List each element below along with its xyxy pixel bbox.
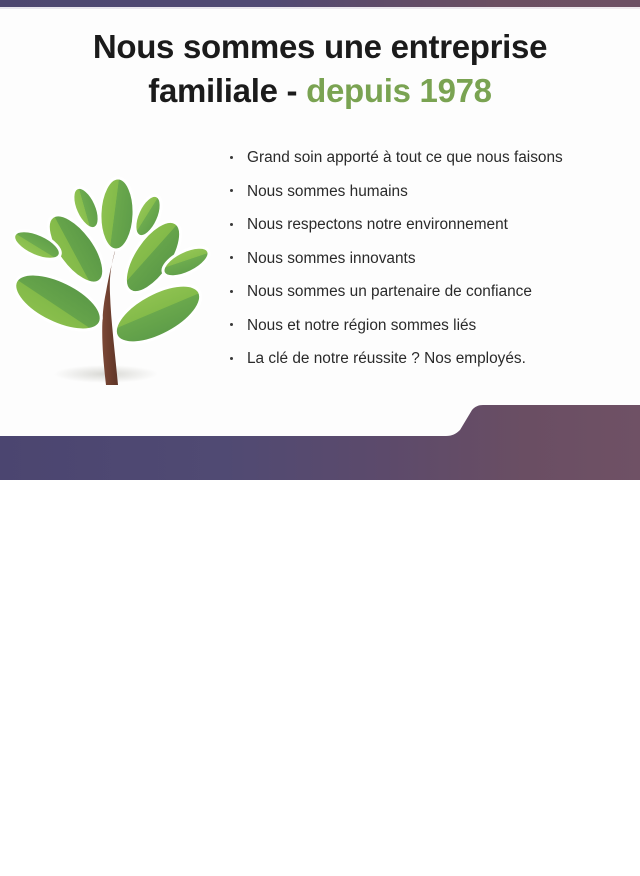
- list-item: Nous sommes humains: [228, 182, 632, 201]
- bullet-dot-icon: [230, 223, 233, 226]
- list-item: Grand soin apporté à tout ce que nous fa…: [228, 148, 632, 167]
- list-item-label: Nous sommes innovants: [247, 250, 416, 267]
- list-item-label: La clé de notre réussite ? Nos employés.: [247, 350, 526, 367]
- logo-letter-t: T: [476, 814, 496, 846]
- benefits-list: Grand soin apporté à tout ce que nous fa…: [228, 148, 632, 383]
- bullet-dot-icon: [230, 256, 233, 259]
- footer-bar: TABOR tabor-automobiles.fr: [0, 400, 640, 480]
- page-title: Nous sommes une entreprise familiale - d…: [0, 26, 640, 112]
- page-title-line2: familiale - depuis 1978: [0, 70, 640, 112]
- tree-icon: [10, 142, 215, 394]
- page-title-accent: depuis 1978: [306, 72, 492, 109]
- bullet-dot-icon: [230, 156, 233, 159]
- list-item-label: Nous et notre région sommes liés: [247, 317, 476, 334]
- footer-bar-shape: [0, 405, 640, 480]
- logo-wordmark: TABOR: [476, 814, 640, 846]
- tree-trunk: [102, 242, 118, 385]
- list-item: Nous respectons notre environnement: [228, 215, 632, 234]
- list-item-label: Nous sommes un partenaire de confiance: [247, 283, 532, 300]
- bullet-dot-icon: [230, 357, 233, 360]
- logo-letter-r: R: [569, 814, 593, 846]
- logo-tagline: tabor-automobiles.fr: [476, 847, 640, 861]
- bullet-dot-icon: [230, 323, 233, 326]
- page-title-line2-prefix: familiale: [148, 72, 277, 109]
- list-item-label: Nous sommes humains: [247, 183, 408, 200]
- list-item: Nous sommes un partenaire de confiance: [228, 282, 632, 301]
- brand-logo[interactable]: TABOR tabor-automobiles.fr: [476, 814, 640, 876]
- slide-canvas: Nous sommes une entreprise familiale - d…: [0, 0, 640, 480]
- leaf-lower-right: [107, 273, 210, 354]
- list-item-label: Nous respectons notre environnement: [247, 216, 508, 233]
- list-item-label: Grand soin apporté à tout ce que nous fa…: [247, 149, 563, 166]
- page-title-dash: -: [287, 72, 298, 109]
- list-item: Nous sommes innovants: [228, 249, 632, 268]
- leaf-top-center: [99, 177, 135, 250]
- bullet-dot-icon: [230, 290, 233, 293]
- logo-letter-b-mirrored: B: [520, 814, 544, 846]
- bullet-dot-icon: [230, 189, 233, 192]
- page-title-line1: Nous sommes une entreprise: [93, 28, 547, 65]
- logo-letter-o: O: [543, 814, 568, 846]
- top-hairline-divider: [0, 7, 640, 9]
- top-accent-band: [0, 0, 640, 7]
- list-item: La clé de notre réussite ? Nos employés.: [228, 349, 632, 368]
- list-item: Nous et notre région sommes liés: [228, 316, 632, 335]
- logo-letter-a: A: [496, 814, 520, 846]
